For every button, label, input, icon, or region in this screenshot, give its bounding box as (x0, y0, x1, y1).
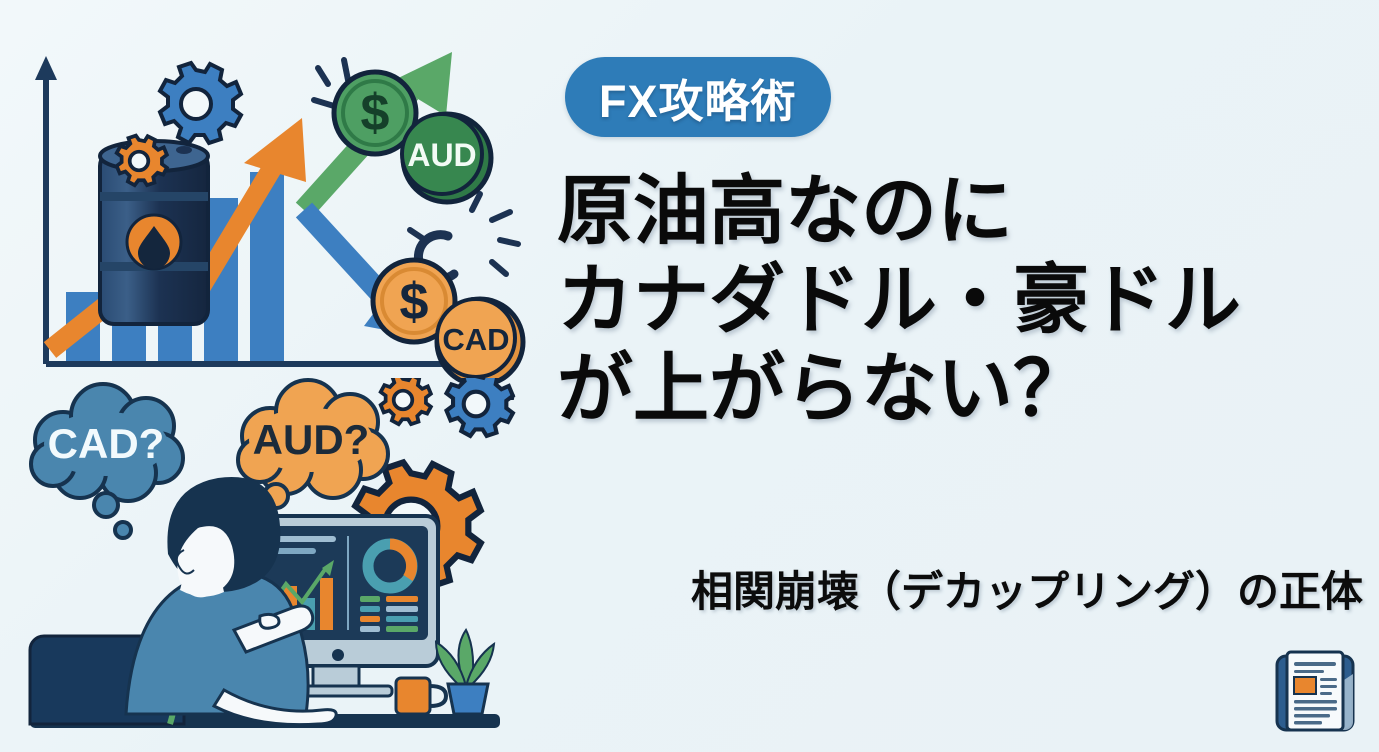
coin-cad-orange: CAD (437, 299, 523, 385)
svg-text:AUD: AUD (407, 137, 476, 173)
category-badge-label: FX攻略術 (599, 65, 797, 130)
svg-text:CAD: CAD (442, 322, 509, 357)
category-badge[interactable]: FX攻略術 (565, 57, 831, 137)
gear-icon (446, 378, 512, 436)
subtitle-text: 相関崩壊（デカップリング）の正体 (691, 568, 1363, 615)
gear-icon (160, 63, 241, 143)
thumbnail-canvas: $ AUD $ CAD (0, 0, 1379, 752)
coffee-mug (396, 678, 446, 714)
illustration-panel: $ AUD $ CAD (0, 0, 545, 752)
gear-icon (381, 378, 431, 424)
coin-aud-green: AUD (402, 114, 491, 202)
thought-bubble-aud-label: AUD? (253, 416, 370, 463)
headline-line-1: 原油高なのに (557, 168, 1377, 257)
text-column: FX攻略術 原油高なのに カナダドル・豪ドル が上がらない？ 相関崩壊（デカップ… (545, 0, 1379, 752)
page-title: 原油高なのに カナダドル・豪ドル が上がらない？ (557, 168, 1377, 435)
y-axis-arrowhead (35, 56, 57, 80)
svg-text:$: $ (400, 273, 429, 331)
svg-text:$: $ (361, 84, 390, 142)
newspaper-icon[interactable] (1263, 644, 1367, 744)
headline-line-3: が上がらない？ (557, 346, 1377, 435)
subtitle: 相関崩壊（デカップリング）の正体 (545, 558, 1379, 619)
thought-bubble-cad: CAD? (31, 384, 183, 538)
trader-at-desk: CAD? AUD? (8, 378, 538, 750)
oil-price-vs-currency-chart: $ AUD $ CAD (18, 30, 538, 400)
thought-bubble-cad-label: CAD? (48, 420, 165, 467)
headline-line-2: カナダドル・豪ドル (557, 257, 1377, 346)
